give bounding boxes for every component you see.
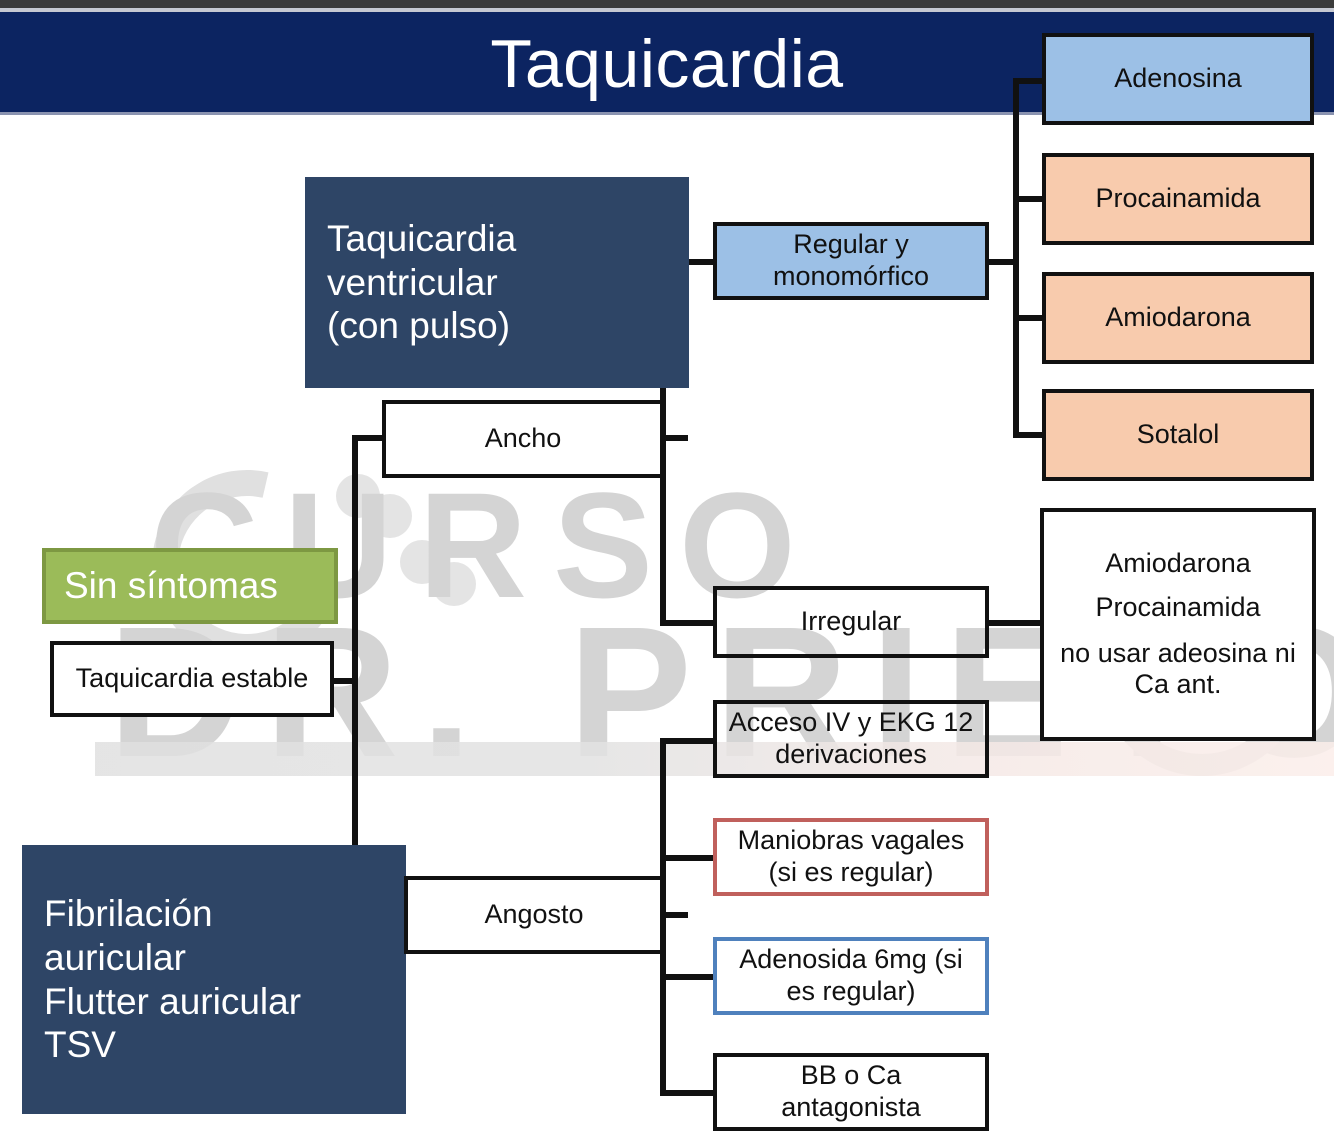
connector-to-sotalol [1013,432,1045,438]
node-adenosida-line1: Adenosida 6mg (si [739,944,963,976]
node-bb-ca-line2: antagonista [781,1092,921,1124]
watermark-stethoscope-bulb2-icon [368,494,412,538]
node-bb-ca-line1: BB o Ca [801,1060,902,1092]
node-fib-line2: auricular [44,936,186,980]
node-tv-line3: (con pulso) [327,304,510,348]
node-acceso-iv-line1: Acceso IV y EKG 12 [729,707,974,739]
node-procainamida-label: Procainamida [1095,183,1260,215]
connector-estable-to-trunk [332,678,358,684]
connector-left-trunk [352,435,358,850]
connector-to-maniobras [660,855,716,861]
node-acceso-iv[interactable]: Acceso IV y EKG 12 derivaciones [713,700,989,778]
node-adenosina[interactable]: Adenosina [1042,33,1314,125]
node-adenosida-6mg[interactable]: Adenosida 6mg (si es regular) [713,937,989,1015]
connector-to-acceso-iv [660,738,716,744]
node-irregular-treatment-line2: Procainamida [1095,592,1260,624]
node-sotalol[interactable]: Sotalol [1042,389,1314,481]
node-bb-ca-antagonista[interactable]: BB o Ca antagonista [713,1053,989,1131]
connector-to-procainamida [1013,196,1045,202]
node-sotalol-label: Sotalol [1137,419,1220,451]
node-taquicardia-estable-label: Taquicardia estable [76,663,309,695]
connector-to-adenosida [660,974,716,980]
node-adenosida-line2: es regular) [786,976,915,1008]
node-regular-monomorfico[interactable]: Regular y monomórfico [713,222,989,300]
node-maniobras-line2: (si es regular) [768,857,933,889]
node-irregular-treatment-line1: Amiodarona [1105,548,1251,580]
node-irregular-treatment-line3: no usar adeosina ni [1060,638,1296,670]
connector-tv-to-regular [688,259,716,265]
connector-to-adenosina [1013,78,1045,84]
node-maniobras-vagales[interactable]: Maniobras vagales (si es regular) [713,818,989,896]
node-regular-line2: monomórfico [773,261,929,293]
connector-to-amiodarona [1013,315,1045,321]
node-angosto-label: Angosto [484,899,583,931]
node-irregular-treatment-line4: Ca ant. [1134,669,1221,701]
node-irregular-treatment[interactable]: Amiodarona Procainamida no usar adeosina… [1040,508,1316,741]
connector-angosto-right-stub [660,912,688,918]
node-taquicardia-estable[interactable]: Taquicardia estable [50,641,334,717]
connector-irregular-to-treatment [985,620,1043,626]
watermark-stethoscope-bulb-icon [336,474,380,518]
node-fib-line3: Flutter auricular [44,980,301,1024]
node-fib-line4: TSV [44,1023,116,1067]
connector-to-bb-ca [660,1090,716,1096]
watermark-stethoscope-bulb3-icon [400,540,444,584]
node-maniobras-line1: Maniobras vagales [738,825,965,857]
window-top-strip [0,0,1334,8]
node-ancho[interactable]: Ancho [382,400,664,478]
node-ancho-label: Ancho [485,423,562,455]
node-amiodarona[interactable]: Amiodarona [1042,272,1314,364]
node-angosto[interactable]: Angosto [404,876,664,954]
node-sin-sintomas-label: Sin síntomas [64,564,278,608]
node-tv-line1: Taquicardia [327,217,516,261]
node-sin-sintomas[interactable]: Sin síntomas [42,548,338,624]
connector-ancho-to-irregular [660,620,716,626]
node-regular-line1: Regular y [793,229,909,261]
node-taquicardia-ventricular[interactable]: Taquicardia ventricular (con pulso) [305,177,689,388]
node-fib-line1: Fibrilación [44,892,213,936]
connector-ancho-right-stub [660,435,688,441]
node-procainamida[interactable]: Procainamida [1042,153,1314,245]
node-acceso-iv-line2: derivaciones [775,739,927,771]
connector-tv-bottom [660,388,666,396]
node-fibrilacion-auricular[interactable]: Fibrilación auricular Flutter auricular … [22,845,406,1114]
watermark-stethoscope-bulb4-icon [432,562,476,606]
flowchart-slide: CURSO DR. PRIETO Taquicardia [0,0,1334,1146]
connector-regular-to-trunk [985,259,1017,265]
node-tv-line2: ventricular [327,261,498,305]
node-amiodarona-label: Amiodarona [1105,302,1251,334]
node-irregular-label: Irregular [801,606,902,638]
node-irregular[interactable]: Irregular [713,586,989,658]
node-adenosina-label: Adenosina [1114,63,1242,95]
